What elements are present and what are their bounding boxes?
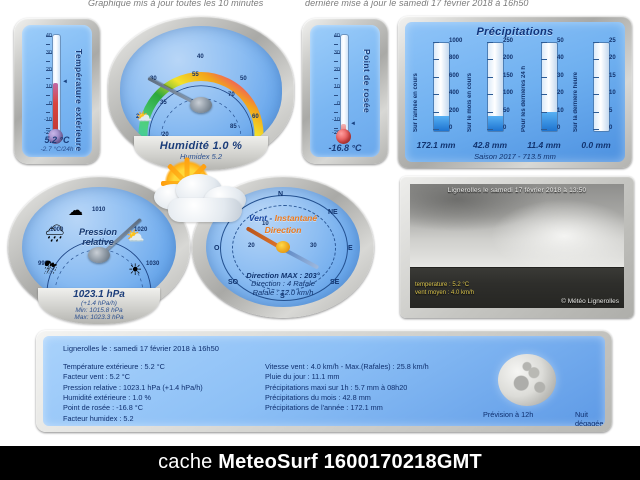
dewpoint-ticks xyxy=(334,34,340,134)
precip-tick-label: 100 xyxy=(503,90,513,96)
precip-scale: 1000 800 600 400 200 0 xyxy=(449,38,465,134)
summary-right-column: Vitesse vent : 4.0 km/h - Max.(Rafales) … xyxy=(265,362,490,414)
precip-column-label: Sur l'année en cours xyxy=(413,48,419,132)
moon-icon xyxy=(498,354,556,406)
precip-tick-label: 5 xyxy=(609,108,612,114)
storm-icon: ⛈ xyxy=(44,259,58,276)
precip-tick-label: 20 xyxy=(557,90,564,96)
current-value-arrow: ◄ xyxy=(62,79,68,85)
dewpoint-tube xyxy=(340,34,349,136)
dewpoint-label: Point de rosée xyxy=(362,49,372,113)
precip-tick-label: 600 xyxy=(449,73,459,79)
summary-left-column: Température extérieure : 5.2 °C Facteur … xyxy=(63,362,278,424)
precip-column-month: Sur le mois en cours 250 200 150 100 50 … xyxy=(465,42,517,138)
precip-tick-label: 250 xyxy=(503,38,513,44)
thermometer-ticks xyxy=(46,34,52,134)
precip-tick-label: 200 xyxy=(503,55,513,61)
sky-decoration xyxy=(150,160,260,236)
sun-cloud-icon: ⛅ xyxy=(126,229,145,244)
baro-tick-label: 1010 xyxy=(92,207,105,213)
precip-ticks xyxy=(541,42,556,130)
summary-date: Lignerolles le : samedi 17 février 2018 … xyxy=(63,344,219,353)
compass-hub xyxy=(276,241,290,253)
summary-line: Facteur vent : 5.2 °C xyxy=(63,372,278,382)
temperature-thermometer[interactable]: 40 30 20 10 0 -10 -20 ◄ Température exté… xyxy=(14,18,100,164)
compass-east: E xyxy=(348,245,353,252)
rain-icon: 🌧 xyxy=(44,225,66,242)
wind-direction-sub: Direction : 4 Rafale xyxy=(206,279,360,288)
dewpoint-value: -16.8 °C xyxy=(328,143,361,153)
wind-title-main: Instantané xyxy=(275,213,318,223)
dewpoint-readout: -16.8 °C xyxy=(310,143,380,153)
wind-gust-speed: Rafale : 12.0 km/h xyxy=(206,288,360,297)
humidity-tick-label: 40 xyxy=(197,54,204,60)
compass-west: O xyxy=(214,245,219,252)
webcam-panel[interactable]: Lignerolles le samedi 17 février 2018 à … xyxy=(400,176,634,318)
compass-north: N xyxy=(278,191,283,198)
summary-line: Humidité extérieure : 1.0 % xyxy=(63,393,278,403)
mercury-column xyxy=(53,83,58,134)
pressure-max: Max: 1023.3 hPa xyxy=(38,314,160,321)
gauge-hub xyxy=(190,97,212,113)
precip-tick-label: 10 xyxy=(609,90,616,96)
precip-tick-label: 40 xyxy=(557,55,564,61)
cloud-icon xyxy=(168,198,242,222)
webcam-caption: Lignerolles le samedi 17 février 2018 à … xyxy=(410,187,624,194)
precip-tick-label: 0 xyxy=(557,125,560,131)
humidity-inner-label: 70 xyxy=(228,92,235,98)
summary-face: Lignerolles le : samedi 17 février 2018 … xyxy=(43,336,605,426)
precip-tick-label: 10 xyxy=(557,108,564,114)
humidity-tick-label: 50 xyxy=(240,76,247,82)
precip-tick-label: 50 xyxy=(557,38,564,44)
precip-tick-label: 30 xyxy=(557,73,564,79)
precip-column-label: Pour les dernières 24 h xyxy=(521,48,527,132)
caption-text: cache MeteoSurf 1600170218GMT xyxy=(0,451,640,474)
precip-tick-label: 0 xyxy=(609,125,612,131)
barometer-hub xyxy=(88,247,110,263)
dewpoint-value-arrow: ◄ xyxy=(350,121,356,127)
humidity-inner-label: 35 xyxy=(160,100,167,106)
precip-column-label: Sur la dernière heure xyxy=(573,48,579,132)
precip-tick-label: 25 xyxy=(609,38,616,44)
caption-code: 1600170218GMT xyxy=(318,451,482,473)
humidity-inner-label: 55 xyxy=(192,72,199,78)
precip-tick-label: 200 xyxy=(449,108,459,114)
humidity-value: Humidité 1.0 % xyxy=(134,140,268,152)
precip-tick-label: 0 xyxy=(503,125,506,131)
webcam-wind: vent moyen : 4.0 km/h xyxy=(415,289,474,297)
webcam-credit: © Météo Lignerolles xyxy=(561,298,619,305)
webcam-sky xyxy=(410,184,624,268)
precip-tick-label: 0 xyxy=(449,125,452,131)
webcam-temp: temperature : 5.2 °C xyxy=(415,281,474,289)
precip-tick-label: 15 xyxy=(609,73,616,79)
precip-value-month: 42.8 mm xyxy=(463,140,517,150)
pressure-trend: (+1.4 hPa/h) xyxy=(38,300,160,307)
summary-line: Précipitations du mois : 42.8 mm xyxy=(265,393,490,403)
summary-line: Précipitations de l'année : 172.1 mm xyxy=(265,403,490,413)
precip-season-total: Saison 2017 - 713.5 mm xyxy=(405,152,625,161)
precip-column-label: Sur le mois en cours xyxy=(467,48,473,132)
precip-tick-label: 50 xyxy=(503,108,510,114)
weather-dashboard: Graphique mis à jour toutes les 10 minut… xyxy=(0,0,640,480)
summary-line: Température extérieure : 5.2 °C xyxy=(63,362,278,372)
temperature-sub: -2.7 °C/24h xyxy=(22,146,92,153)
webcam-overlay: temperature : 5.2 °C vent moyen : 4.0 km… xyxy=(415,281,474,297)
sun-icon: ☀ xyxy=(128,263,142,279)
precip-scale: 250 200 150 100 50 0 xyxy=(503,38,519,134)
barometer-readout: 1023.1 hPa (+1.4 hPa/h) Min: 1015.8 hPa … xyxy=(38,288,160,324)
humidity-tick-label: 60 xyxy=(252,114,259,120)
precip-ticks xyxy=(487,42,502,130)
header-left-note: Graphique mis à jour toutes les 10 minut… xyxy=(88,0,263,8)
precip-tick-label: 150 xyxy=(503,73,513,79)
caption-bar: cache MeteoSurf 1600170218GMT xyxy=(0,446,640,480)
precip-value-year: 172.1 mm xyxy=(409,140,463,150)
summary-line: Vitesse vent : 4.0 km/h - Max.(Rafales) … xyxy=(265,362,490,372)
summary-line: Point de rosée : -16.8 °C xyxy=(63,403,278,413)
precip-column-hour: Sur la dernière heure 25 20 15 10 5 0 xyxy=(571,42,623,138)
cloud-icon: ☁ xyxy=(68,203,83,218)
temperature-value: 5.2 °C xyxy=(44,135,69,145)
precip-tick-label: 400 xyxy=(449,90,459,96)
webcam-image: Lignerolles le samedi 17 février 2018 à … xyxy=(410,184,624,308)
humidity-inner-label: 85 xyxy=(230,124,237,130)
wind-speed-tick: 20 xyxy=(248,243,255,249)
thermometer-face: 40 30 20 10 0 -10 -20 ◄ Température exté… xyxy=(22,25,92,157)
humidity-gauge[interactable]: 10 20 30 40 50 60 20 35 55 70 85 100 ⛅ H… xyxy=(108,16,294,166)
precip-tick-label: 800 xyxy=(449,55,459,61)
forecast-label: Prévision à 12h xyxy=(483,410,533,419)
summary-panel[interactable]: Lignerolles le : samedi 17 février 2018 … xyxy=(36,330,612,432)
header-notes: Graphique mis à jour toutes les 10 minut… xyxy=(0,0,640,10)
pressure-value: 1023.1 hPa xyxy=(38,289,160,300)
temperature-readout: 5.2 °C -2.7 °C/24h xyxy=(22,135,92,153)
pressure-min: Min: 1015.8 hPa xyxy=(38,307,160,314)
summary-line: Pression relative : 1023.1 hPa (+1.4 hPa… xyxy=(63,383,278,393)
precip-value-24h: 11.4 mm xyxy=(517,140,571,150)
precipitation-panel[interactable]: Précipitations Sur l'année en cours 1000… xyxy=(398,16,632,168)
precip-value-hour: 0.0 mm xyxy=(569,140,623,150)
sun-cloud-icon: ⛅ xyxy=(136,110,152,123)
baro-tick-label: 1030 xyxy=(146,261,159,267)
precip-column-year: Sur l'année en cours 1000 800 600 400 20… xyxy=(411,42,463,138)
forecast-text: Nuit dégagée xyxy=(575,410,605,426)
summary-line: Précipitations maxi sur 1h : 5.7 mm à 08… xyxy=(265,383,490,393)
precip-tick-label: 20 xyxy=(609,55,616,61)
dewpoint-thermometer[interactable]: 40 30 20 10 0 -10 -20 ◄ Point de rosée xyxy=(302,18,388,164)
caption-brand: MeteoSurf xyxy=(218,451,318,473)
precipitation-title: Précipitations xyxy=(405,26,625,38)
precip-ticks xyxy=(593,42,608,130)
precip-ticks xyxy=(433,42,448,130)
precip-tick-label: 1000 xyxy=(449,38,462,44)
dewpoint-face: 40 30 20 10 0 -10 -20 ◄ Point de rosée xyxy=(310,25,380,157)
wind-speed-tick: 30 xyxy=(310,243,317,249)
precip-scale: 25 20 15 10 5 0 xyxy=(609,38,625,134)
summary-line: Pluie du jour : 11.1 mm xyxy=(265,372,490,382)
summary-line: Facteur humidex : 5.2 xyxy=(63,414,278,424)
precip-column-24h: Pour les dernières 24 h 50 40 30 20 10 0 xyxy=(519,42,571,138)
precipitation-face: Précipitations Sur l'année en cours 1000… xyxy=(405,22,625,162)
header-right-note: dernière mise à jour le samedi 17 févrie… xyxy=(305,0,529,8)
caption-prefix: cache xyxy=(158,451,218,473)
